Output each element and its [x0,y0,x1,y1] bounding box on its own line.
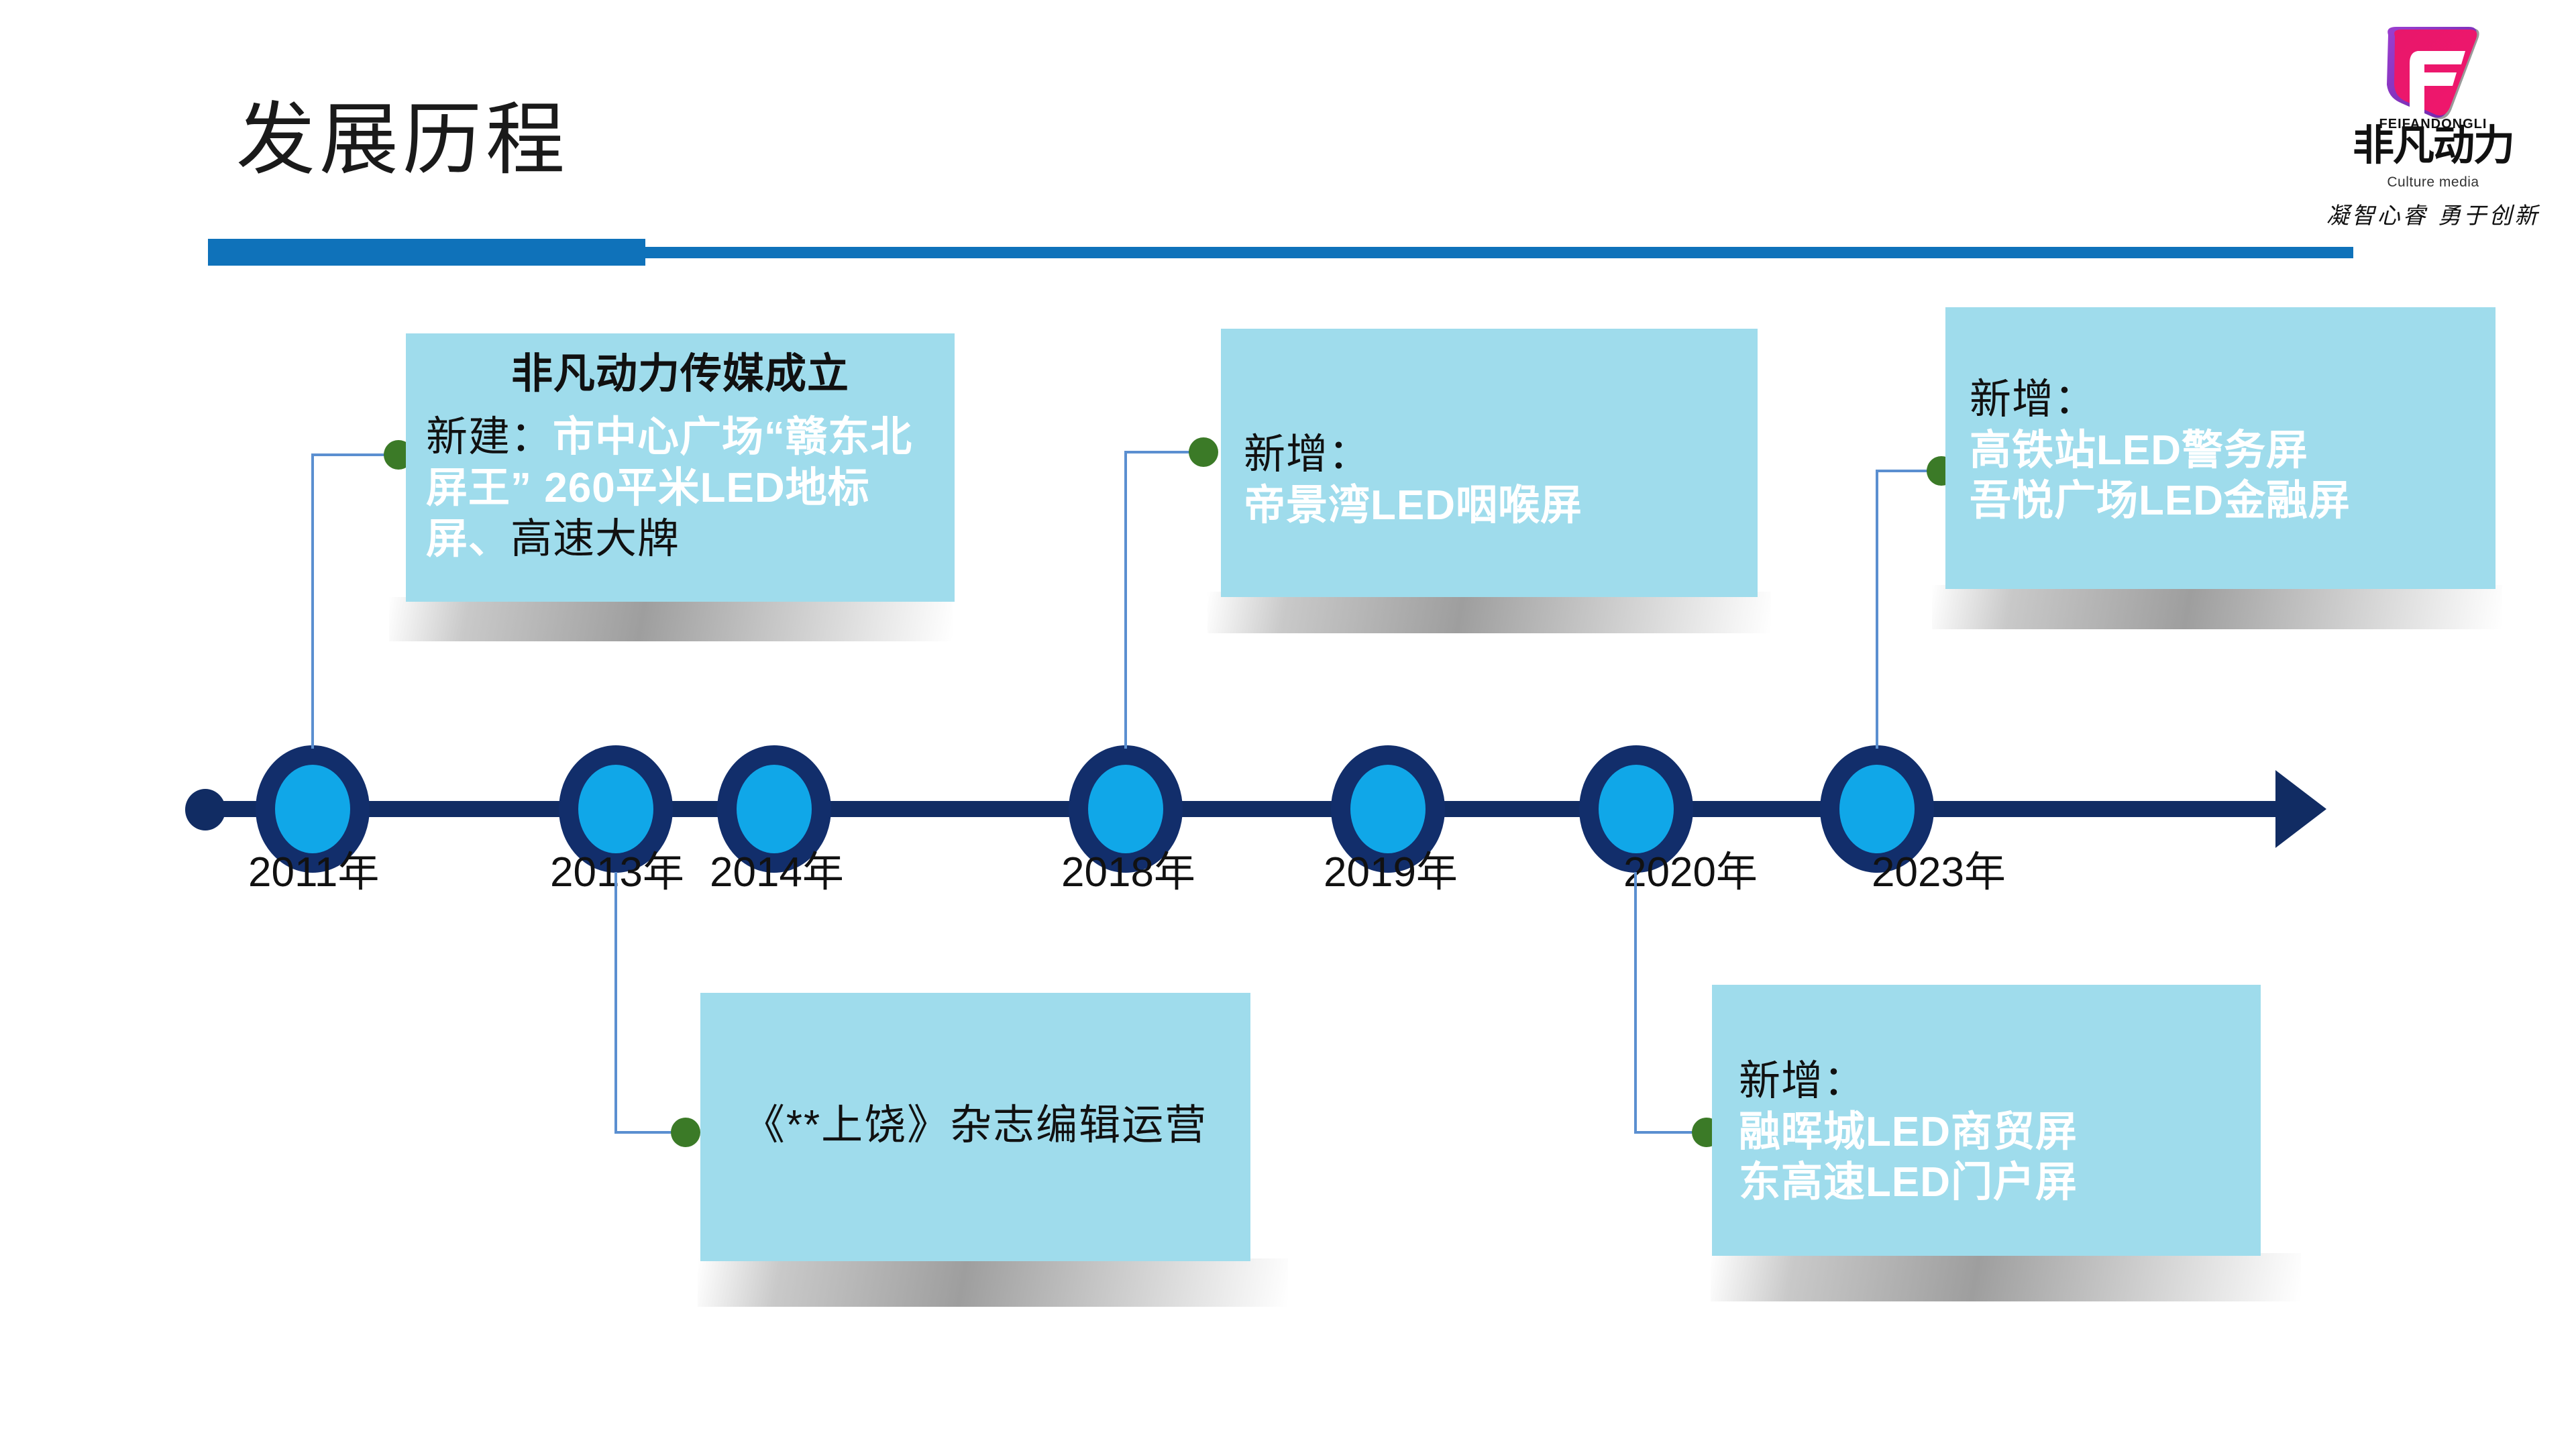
card-2018-label: 新增： [1244,429,1737,480]
year-label-2018: 2018年 [1061,852,1195,894]
card-2023-label: 新增： [1970,374,2479,425]
card-2014-text: 《**上饶》杂志编辑运营 [716,1100,1234,1151]
card-shadow-2011 [389,597,953,641]
connector-endpoint-2018 [1189,437,1218,467]
card-shadow-2023 [1932,585,2502,629]
title-underline-thin [644,247,2353,258]
card-2023-line-1: 高铁站LED警务屏 [1970,425,2479,476]
connector-2018-vertical [1124,451,1127,749]
title-underline-thick [208,239,645,266]
card-2020-label: 新增： [1739,1056,2245,1107]
logo-name-cn: 非凡动力 [2322,125,2544,166]
year-label-2014: 2014年 [710,852,844,894]
card-shadow-2018 [1207,592,1771,633]
card-2020-line-1: 融晖城LED商贸屏 [1739,1107,2245,1158]
logo-f-mark-icon [2371,24,2495,125]
logo-slogan: 凝智心睿 勇于创新 [2322,197,2544,230]
connector-2023-vertical [1876,470,1878,749]
node-core [737,765,812,853]
card-2020[interactable]: 新增： 融晖城LED商贸屏 东高速LED门户屏 [1712,985,2261,1256]
year-label-2020: 2020年 [1623,852,1758,894]
connector-endpoint-2013 [671,1118,700,1147]
axis-arrow-icon [2275,770,2326,848]
node-core [275,765,350,853]
card-2020-line-2: 东高速LED门户屏 [1739,1157,2245,1208]
node-core [1350,765,1426,853]
card-2014[interactable]: 《**上饶》杂志编辑运营 [700,993,1250,1261]
company-logo: FEIFANDONGLI 非凡动力 Culture media 凝智心睿 勇于创… [2322,24,2544,232]
card-2018[interactable]: 新增： 帝景湾LED咽喉屏 [1221,329,1758,597]
node-core [1839,765,1915,853]
timeline-axis [201,801,2294,817]
card-2011-tail: 高速大牌 [511,516,680,562]
card-2011-label: 新建： [426,414,553,460]
card-shadow-2014 [698,1258,1288,1307]
page-title: 发展历程 [236,101,569,180]
card-shadow-2020 [1711,1253,2301,1301]
card-2018-line-1: 帝景湾LED咽喉屏 [1244,480,1737,531]
node-core [1088,765,1163,853]
year-label-2011: 2011年 [248,852,379,894]
slide-canvas: 发展历程 FEIFANDONGLI 非凡动力 Culture media 凝智心… [0,0,2576,1449]
card-2023[interactable]: 新增： 高铁站LED警务屏 吾悦广场LED金融屏 [1945,307,2495,589]
connector-2013-vertical [614,872,617,1134]
node-core [578,765,653,853]
connector-2011-vertical [311,453,314,749]
card-2011[interactable]: 非凡动力传媒成立 新建：市中心广场“赣东北屏王” 260平米LED地标屏、高速大… [406,333,955,602]
year-label-2023: 2023年 [1872,852,2006,894]
connector-2020-vertical [1634,872,1637,1134]
year-label-2019: 2019年 [1324,852,1458,894]
connector-2011-horizontal [311,453,393,456]
node-core [1599,765,1674,853]
card-2023-line-2: 吾悦广场LED金融屏 [1970,476,2479,527]
card-2011-body: 新建：市中心广场“赣东北屏王” 260平米LED地标屏、高速大牌 [426,412,934,564]
card-2011-title: 非凡动力传媒成立 [426,351,934,397]
logo-subtitle: Culture media [2322,174,2544,191]
